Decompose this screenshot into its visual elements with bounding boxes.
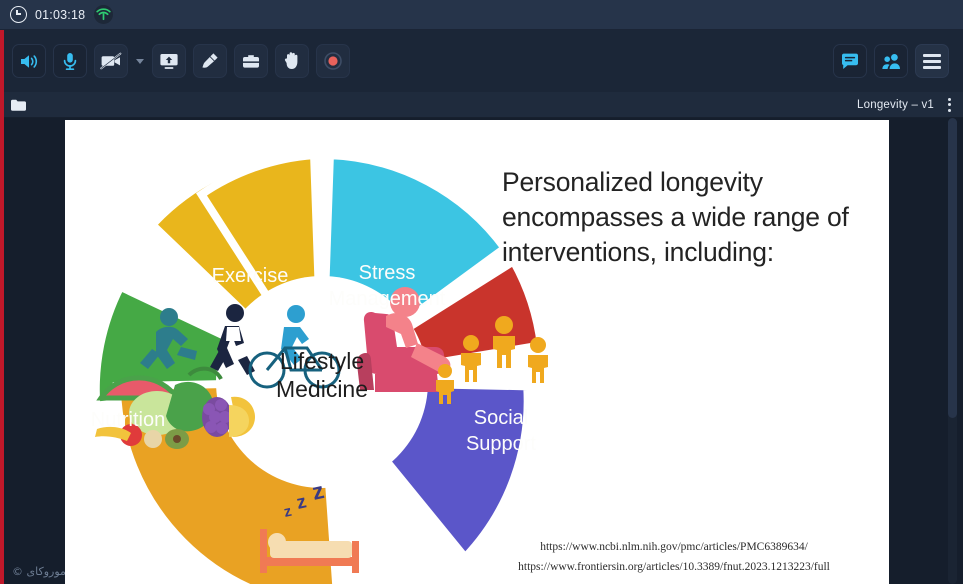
briefcase-files-button[interactable] [234,44,268,78]
session-timer: 01:03:18 [35,8,85,22]
document-tab-bar: Longevity – v1 [0,92,963,118]
screen-share-button[interactable] [152,44,186,78]
toolbar-left-group [12,44,350,78]
meeting-toolbar [0,30,963,92]
wheel-hub-label-2: Medicine [276,376,368,402]
annotate-pen-button[interactable] [193,44,227,78]
more-vertical-icon[interactable] [941,95,957,115]
wheel-label-social-2: Support [466,433,536,455]
menu-icon [923,54,941,57]
clock-icon [10,6,27,23]
camera-off-button[interactable] [94,44,128,78]
wifi-signal-icon [94,5,113,24]
wheel-label-social-1: Social [474,407,528,429]
wheel-label-nutrition: Nutrition [91,409,165,431]
folder-icon[interactable] [10,98,27,112]
watermark: موروکای © [12,565,66,578]
record-button[interactable] [316,44,350,78]
raise-hand-button[interactable] [275,44,309,78]
slide-body-text: Personalized longevity encompasses a wid… [502,165,877,271]
speaker-button[interactable] [12,44,46,78]
chat-button[interactable] [833,44,867,78]
wheel-hub-label-1: Lifestyle [280,348,364,374]
slide-references: https://www.ncbi.nlm.nih.gov/pmc/article… [469,538,879,578]
scrollbar-thumb[interactable] [948,118,957,418]
status-bar: 01:03:18 [0,0,963,30]
reference-link-1[interactable]: https://www.ncbi.nlm.nih.gov/pmc/article… [469,538,879,558]
wheel-label-stress-2: Management [329,288,446,310]
menu-icon [923,60,941,63]
wheel-label-exercise: Exercise [212,265,289,287]
recording-edge-stripe [0,30,4,584]
chevron-down-icon[interactable] [134,51,146,71]
slide-canvas[interactable]: z z z [65,120,889,584]
wheel-label-stress-1: Stress [359,262,416,284]
tab-title[interactable]: Longevity – v1 [857,99,934,111]
toolbar-right-group [833,44,949,78]
meeting-app-window: 01:03:18 [0,0,963,584]
vertical-scrollbar[interactable] [948,118,957,584]
participants-button[interactable] [874,44,908,78]
microphone-button[interactable] [53,44,87,78]
menu-button[interactable] [915,44,949,78]
menu-icon [923,66,941,69]
presentation-stage: z z z [4,118,963,584]
reference-link-2[interactable]: https://www.frontiersin.org/articles/10.… [469,558,879,578]
